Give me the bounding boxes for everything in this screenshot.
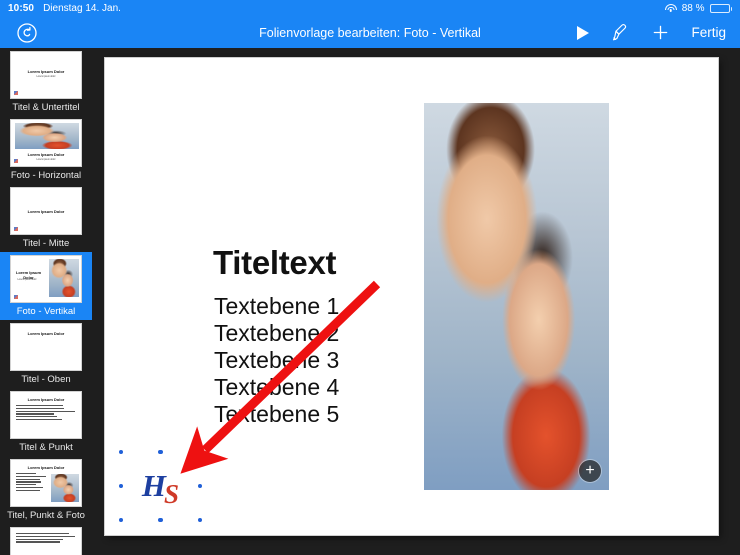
thumbnail-logo-icon [14, 91, 18, 95]
thumbnail-title: Lorem Ipsum Dolor [11, 465, 81, 470]
slide-title-placeholder[interactable]: Titeltext [213, 244, 336, 282]
thumbnail-title: Lorem Ipsum Dolor [11, 331, 81, 336]
thumbnail-subtitle: Lorem ipsum dolor [11, 76, 81, 78]
slide-body-placeholder[interactable]: Textebene 1Textebene 2Textebene 3Textebe… [214, 293, 339, 428]
thumbnail-subtitle: Lorem ipsum dolor [11, 159, 81, 161]
photo-add-button[interactable]: + [579, 460, 601, 482]
thumbnail-title: Lorem Ipsum Dolor [11, 209, 81, 214]
selection-handle[interactable] [198, 484, 203, 489]
sidebar-item-label: Titel & Untertitel [0, 102, 92, 116]
status-right-group: 88 % [665, 3, 732, 14]
thumbnail-wrapper: Lorem Ipsum Dolor [0, 459, 92, 507]
sidebar-item-titel-punkt[interactable]: Lorem Ipsum DolorTitel & Punkt [0, 388, 92, 456]
sidebar-item-titel-oben[interactable]: Lorem Ipsum DolorTitel - Oben [0, 320, 92, 388]
sidebar-item-label: Foto - Vertikal [0, 306, 92, 320]
thumbnail-wrapper: Lorem Ipsum DolorLorem ipsum dolor [0, 255, 92, 303]
thumbnail-title: Lorem Ipsum Dolor [11, 152, 81, 157]
slide-thumbnail: Lorem Ipsum Dolor [10, 391, 82, 439]
thumbnail-logo-icon [14, 227, 18, 231]
sidebar-item-label: Titel - Oben [0, 374, 92, 388]
thumbnail-logo-icon [14, 159, 18, 163]
sidebar-item-label: Titel, Punkt & Foto [0, 510, 92, 524]
thumbnail-photo [51, 474, 79, 502]
thumbnail-subtitle: Lorem ipsum dolor [11, 279, 43, 281]
slide-body-line: Textebene 3 [214, 347, 339, 374]
photo-image [424, 103, 609, 490]
hs-logo: H S [121, 452, 200, 520]
selection-handle[interactable] [198, 518, 203, 523]
slide-thumbnail: Lorem Ipsum Dolor [10, 187, 82, 235]
battery-icon [710, 4, 733, 13]
status-bar: 10:50 Dienstag 14. Jan. 88 % [0, 0, 740, 17]
status-date: Dienstag 14. Jan. [43, 3, 121, 14]
thumbnail-wrapper: Lorem Ipsum DolorLorem ipsum dolor [0, 51, 92, 99]
slide-thumbnail: Lorem Ipsum DolorLorem ipsum dolor [10, 255, 82, 303]
sidebar-item-titel-untertitel[interactable]: Lorem Ipsum DolorLorem ipsum dolorTitel … [0, 48, 92, 116]
battery-percent-label: 88 % [682, 3, 705, 14]
slide-body-line: Textebene 2 [214, 320, 339, 347]
page-title-prefix: Folienvorlage bearbeiten: [259, 26, 400, 40]
slide-canvas[interactable]: Titeltext Textebene 1Textebene 2Texteben… [105, 58, 718, 535]
thumbnail-wrapper: Lorem Ipsum DolorLorem ipsum dolor [0, 119, 92, 167]
wifi-icon [665, 4, 677, 13]
thumbnail-photo [15, 123, 79, 149]
sidebar-item-label: Titel & Punkt [0, 442, 92, 456]
slide-thumbnail: Lorem Ipsum Dolor [10, 323, 82, 371]
status-clock: 10:50 [8, 3, 34, 14]
selection-handle[interactable] [119, 518, 124, 523]
sidebar-item-foto-vertikal[interactable]: Lorem Ipsum DolorLorem ipsum dolorFoto -… [0, 252, 92, 320]
thumbnail-wrapper: Lorem Ipsum Dolor [0, 391, 92, 439]
sidebar-item-titel-punkt-foto[interactable]: Lorem Ipsum DolorTitel, Punkt & Foto [0, 456, 92, 524]
thumbnail-text-lines [16, 533, 78, 544]
selection-handle[interactable] [158, 518, 163, 523]
thumbnail-wrapper: Lorem Ipsum Dolor [0, 323, 92, 371]
sidebar-item-foto-horizontal[interactable]: Lorem Ipsum DolorLorem ipsum dolorFoto -… [0, 116, 92, 184]
slide-body-line: Textebene 1 [214, 293, 339, 320]
logo-letter-s: S [164, 479, 179, 510]
slide-thumbnail: Lorem Ipsum DolorLorem ipsum dolor [10, 51, 82, 99]
thumbnail-logo-icon [14, 295, 18, 299]
slide-body-line: Textebene 4 [214, 374, 339, 401]
thumbnail-title: Lorem Ipsum Dolor [11, 397, 81, 402]
slide-layout-list: Lorem Ipsum DolorLorem ipsum dolorTitel … [0, 48, 92, 555]
sidebar-item-titel-mitte[interactable]: Lorem Ipsum DolorTitel - Mitte [0, 184, 92, 252]
slide-photo-placeholder[interactable]: + [424, 103, 609, 490]
page-title-value: Foto - Vertikal [404, 26, 481, 40]
ipad-keynote-screen: 10:50 Dienstag 14. Jan. 88 % Folienvorla… [0, 0, 740, 555]
sidebar-item-label: Foto - Horizontal [0, 170, 92, 184]
undo-icon[interactable] [16, 22, 38, 44]
slide-body-line: Textebene 5 [214, 401, 339, 428]
toolbar: Folienvorlage bearbeiten: Foto - Vertika… [0, 17, 740, 48]
selection-handle[interactable] [198, 450, 203, 455]
slide-thumbnail: Lorem Ipsum Dolor [10, 459, 82, 507]
thumbnail-photo [49, 259, 79, 297]
sidebar-item-slide-8[interactable] [0, 524, 92, 555]
selection-handle[interactable] [158, 450, 163, 455]
thumbnail-wrapper [0, 527, 92, 555]
sidebar-item-label: Titel - Mitte [0, 238, 92, 252]
thumbnail-wrapper: Lorem Ipsum Dolor [0, 187, 92, 235]
logo-letter-h: H [142, 468, 166, 504]
plus-icon[interactable] [652, 24, 669, 41]
slide-thumbnail: Lorem Ipsum DolorLorem ipsum dolor [10, 119, 82, 167]
logo-object-selected[interactable]: H S [121, 452, 200, 520]
slide-thumbnail [10, 527, 82, 555]
thumbnail-title: Lorem Ipsum Dolor [11, 69, 81, 74]
done-button[interactable]: Fertig [691, 25, 726, 40]
play-icon[interactable] [577, 26, 589, 40]
slide-layout-sidebar[interactable]: Lorem Ipsum DolorLorem ipsum dolorTitel … [0, 48, 92, 555]
thumbnail-text-lines [16, 405, 78, 422]
thumbnail-text-lines [16, 473, 48, 492]
brush-icon[interactable] [611, 23, 630, 42]
